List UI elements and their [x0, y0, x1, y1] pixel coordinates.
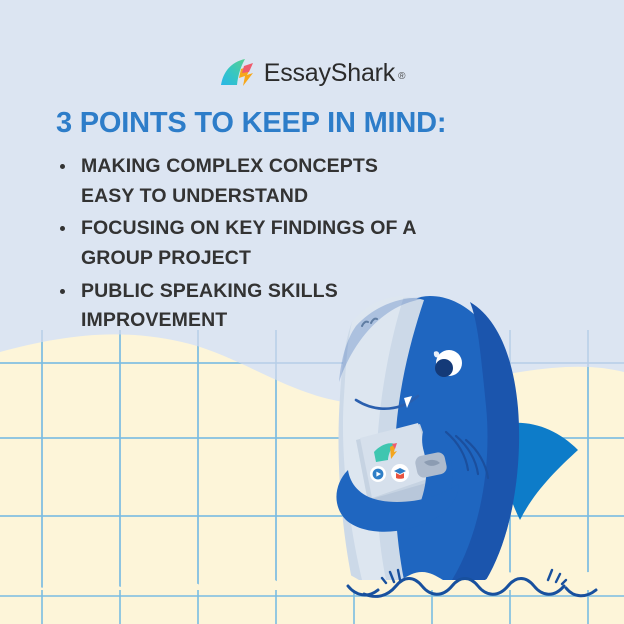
shark-eye-pupil: [435, 359, 453, 377]
list-item-line: EASY TO UNDERSTAND: [81, 182, 482, 212]
list-item-line: PUBLIC SPEAKING SKILLS: [81, 277, 482, 307]
points-list: MAKING COMPLEX CONCEPTS EASY TO UNDERSTA…: [52, 152, 482, 339]
brand-logo[interactable]: EssayShark®: [0, 56, 624, 90]
shark-fin-icon: [219, 58, 257, 88]
list-item-line: MAKING COMPLEX CONCEPTS: [81, 152, 482, 182]
bullet-dot-icon: [60, 164, 65, 169]
list-item: MAKING COMPLEX CONCEPTS EASY TO UNDERSTA…: [52, 152, 482, 211]
list-item-line: IMPROVEMENT: [81, 306, 482, 336]
bullet-dot-icon: [60, 289, 65, 294]
list-item: PUBLIC SPEAKING SKILLS IMPROVEMENT: [52, 277, 482, 336]
brand-name: EssayShark®: [264, 61, 406, 86]
list-item-line: GROUP PROJECT: [81, 244, 482, 274]
list-item-line: FOCUSING ON KEY FINDINGS OF A: [81, 214, 482, 244]
brand-name-text: EssayShark: [264, 59, 395, 87]
page-title: 3 POINTS TO KEEP IN MIND:: [56, 108, 446, 140]
registered-trademark-icon: ®: [398, 71, 405, 82]
list-item: FOCUSING ON KEY FINDINGS OF A GROUP PROJ…: [52, 214, 482, 273]
bullet-dot-icon: [60, 226, 65, 231]
poster-canvas: EssayShark® 3 POINTS TO KEEP IN MIND: MA…: [0, 0, 624, 624]
